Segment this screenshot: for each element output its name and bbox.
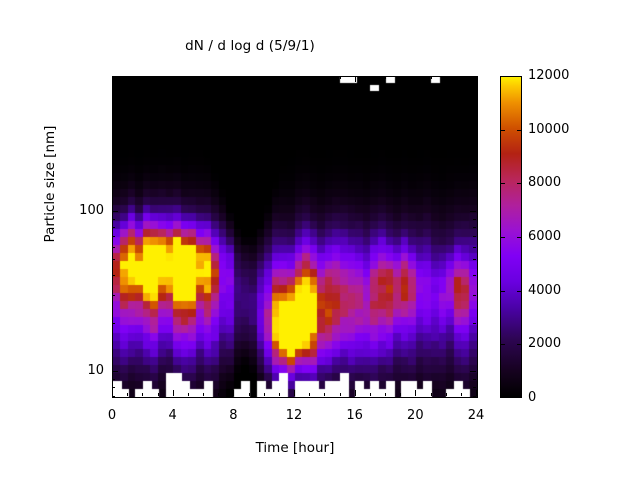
y-axis-right-minor-tick: [473, 387, 476, 388]
x-axis-major-tick: [294, 390, 295, 396]
x-axis-tick-label: 4: [153, 408, 193, 423]
x-axis-top-tick: [461, 76, 462, 79]
x-axis-tick-label: 12: [274, 408, 314, 423]
x-axis-top-tick: [264, 76, 265, 79]
x-axis-minor-tick: [324, 393, 325, 396]
y-axis-right-minor-tick: [473, 135, 476, 136]
x-axis-top-tick: [309, 76, 310, 79]
x-axis-tick-label: 16: [335, 408, 375, 423]
heatmap-canvas: [113, 77, 477, 397]
x-axis-major-tick: [355, 390, 356, 396]
x-axis-top-tick: [127, 76, 128, 79]
x-axis-top-tick: [173, 76, 174, 82]
x-axis-tick-label: 20: [395, 408, 435, 423]
x-axis-major-tick: [173, 390, 174, 396]
x-axis-minor-tick: [249, 393, 250, 396]
y-axis-minor-tick: [112, 219, 115, 220]
y-axis-minor-tick: [112, 115, 115, 116]
colorbar-tick: [500, 183, 505, 184]
y-axis-minor-tick: [112, 99, 115, 100]
y-axis-right-minor-tick: [473, 87, 476, 88]
particle-size-distribution-figure: dN / d log d (5/9/1) Particle size [nm] …: [0, 0, 640, 480]
y-axis-minor-tick: [112, 247, 115, 248]
colorbar-tick-label: 2000: [528, 336, 561, 351]
y-axis-minor-tick: [112, 387, 115, 388]
x-axis-minor-tick: [309, 393, 310, 396]
x-axis-top-tick: [431, 76, 432, 79]
y-axis-tick-label: 100: [64, 203, 104, 218]
x-axis-top-tick: [476, 76, 477, 82]
y-axis-minor-tick: [112, 259, 115, 260]
y-axis-minor-tick: [112, 236, 115, 237]
colorbar-tick-label: 8000: [528, 175, 561, 190]
y-axis-label: Particle size [nm]: [42, 74, 58, 294]
colorbar-tick: [500, 344, 505, 345]
x-axis-minor-tick: [188, 393, 189, 396]
x-axis-top-tick: [324, 76, 325, 79]
colorbar-tick: [517, 130, 522, 131]
y-axis-minor-tick: [112, 87, 115, 88]
y-axis-minor-tick: [112, 295, 115, 296]
x-axis-minor-tick: [127, 393, 128, 396]
y-axis-right-minor-tick: [473, 76, 476, 77]
x-axis-top-tick: [370, 76, 371, 79]
x-axis-tick-label: 8: [213, 408, 253, 423]
y-axis-right-minor-tick: [473, 227, 476, 228]
x-axis-top-tick: [415, 76, 416, 82]
x-axis-minor-tick: [340, 393, 341, 396]
y-axis-minor-tick: [112, 163, 115, 164]
x-axis-minor-tick: [279, 393, 280, 396]
x-axis-top-tick: [249, 76, 250, 79]
y-axis-right-minor-tick: [473, 323, 476, 324]
heatmap-plot-area: [112, 76, 478, 398]
colorbar-tick: [517, 291, 522, 292]
y-axis-right-minor-tick: [473, 396, 476, 397]
y-axis-tick-label: 10: [64, 363, 104, 378]
colorbar-tick-label: 6000: [528, 229, 561, 244]
x-axis-tick-label: 24: [456, 408, 496, 423]
y-axis-minor-tick: [112, 323, 115, 324]
x-axis-top-tick: [203, 76, 204, 79]
x-axis-minor-tick: [203, 393, 204, 396]
y-axis-minor-tick: [112, 135, 115, 136]
y-axis-minor-tick: [112, 275, 115, 276]
x-axis-label: Time [hour]: [112, 440, 478, 456]
x-axis-major-tick: [476, 390, 477, 396]
colorbar-tick: [517, 344, 522, 345]
y-axis-right-minor-tick: [473, 295, 476, 296]
x-axis-minor-tick: [431, 393, 432, 396]
y-axis-right-tick: [470, 371, 476, 372]
x-axis-top-tick: [218, 76, 219, 79]
y-axis-minor-tick: [112, 76, 115, 77]
x-axis-top-tick: [188, 76, 189, 79]
colorbar-tick: [517, 183, 522, 184]
x-axis-major-tick: [415, 390, 416, 396]
y-axis-right-minor-tick: [473, 163, 476, 164]
y-axis-right-minor-tick: [473, 275, 476, 276]
y-axis-right-minor-tick: [473, 259, 476, 260]
chart-title: dN / d log d (5/9/1): [0, 38, 500, 54]
colorbar-tick-label: 10000: [528, 122, 569, 137]
x-axis-top-tick: [158, 76, 159, 79]
y-axis-minor-tick: [112, 396, 115, 397]
x-axis-minor-tick: [158, 393, 159, 396]
y-axis-right-minor-tick: [473, 115, 476, 116]
x-axis-minor-tick: [218, 393, 219, 396]
x-axis-major-tick: [233, 390, 234, 396]
y-axis-right-tick: [470, 211, 476, 212]
x-axis-top-tick: [446, 76, 447, 79]
x-axis-top-tick: [294, 76, 295, 82]
y-axis-minor-tick: [112, 379, 115, 380]
y-axis-major-tick: [112, 371, 118, 372]
colorbar-tick-label: 4000: [528, 283, 561, 298]
x-axis-minor-tick: [370, 393, 371, 396]
y-axis-right-minor-tick: [473, 219, 476, 220]
x-axis-minor-tick: [264, 393, 265, 396]
x-axis-top-tick: [340, 76, 341, 79]
colorbar-tick: [500, 130, 505, 131]
y-axis-right-minor-tick: [473, 99, 476, 100]
colorbar-tick: [500, 237, 505, 238]
colorbar-tick-label: 12000: [528, 68, 569, 83]
y-axis-right-minor-tick: [473, 236, 476, 237]
x-axis-top-tick: [233, 76, 234, 82]
x-axis-top-tick: [355, 76, 356, 82]
colorbar-tick: [517, 237, 522, 238]
x-axis-minor-tick: [385, 393, 386, 396]
y-axis-major-tick: [112, 211, 118, 212]
x-axis-minor-tick: [446, 393, 447, 396]
x-axis-top-tick: [400, 76, 401, 79]
x-axis-minor-tick: [461, 393, 462, 396]
x-axis-tick-label: 0: [92, 408, 132, 423]
y-axis-minor-tick: [112, 227, 115, 228]
x-axis-top-tick: [142, 76, 143, 79]
colorbar-tick-label: 0: [528, 390, 536, 405]
x-axis-minor-tick: [400, 393, 401, 396]
y-axis-right-minor-tick: [473, 247, 476, 248]
colorbar-tick: [500, 291, 505, 292]
y-axis-right-minor-tick: [473, 379, 476, 380]
x-axis-top-tick: [385, 76, 386, 79]
x-axis-top-tick: [279, 76, 280, 79]
x-axis-minor-tick: [142, 393, 143, 396]
